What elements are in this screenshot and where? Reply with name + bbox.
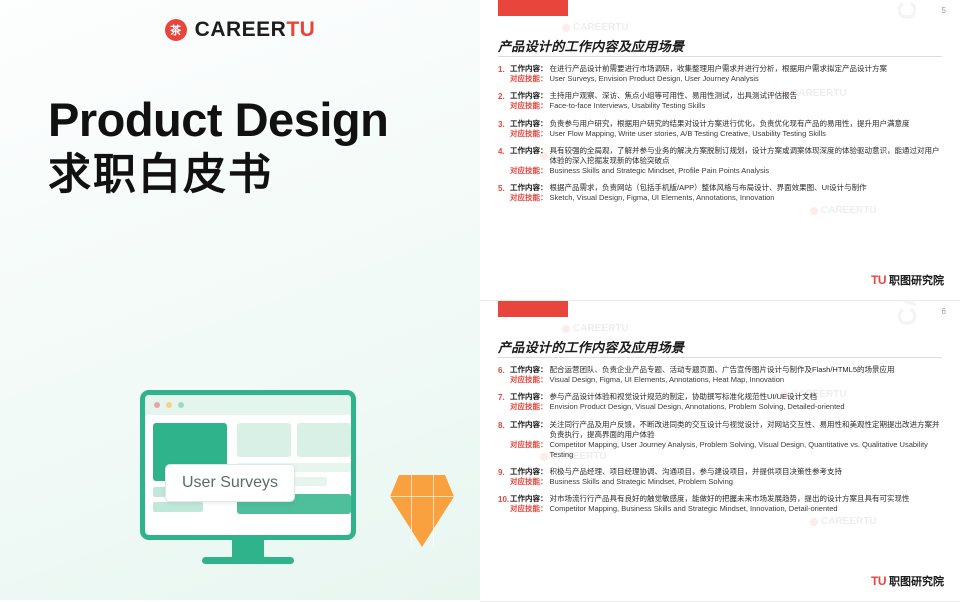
slide-page-number: 6 <box>942 307 946 316</box>
item-content-text: 积极与产品经理、项目经理协调、沟通项目，参与建设项目，并提供项目决策性参考支持 <box>550 467 843 477</box>
watermark: CAREERTU <box>562 323 629 334</box>
footer-logo: TU 职图研究院 <box>871 573 944 589</box>
user-surveys-chip: User Surveys <box>165 464 295 502</box>
footer-logo-cn: 职图研究院 <box>889 573 944 589</box>
slide-item-list: 6. 工作内容：配合运营团队、负责企业产品专题、活动专题页面、广告宣传图片设计与… <box>498 365 942 522</box>
item-content-label: 工作内容： <box>510 420 548 430</box>
monitor-titlebar <box>145 395 351 415</box>
item-content-text: 参与产品设计体验和视觉设计规范的制定，协助撰写标准化规范性UI/UE设计文档 <box>550 392 818 402</box>
footer-logo-cn: 职图研究院 <box>889 272 944 288</box>
ui-block-line-2 <box>153 502 203 512</box>
sketch-diamond-lines <box>390 475 454 547</box>
item-content-label: 工作内容： <box>510 365 548 375</box>
list-item: 4. 工作内容：具有较强的全局观，了解并参与业务的解决方案脱制订规划，设计方案或… <box>498 146 942 176</box>
item-content-text: 主持用户观察、深访、焦点小组等可用性、易用性测试，出具测试评估报告 <box>550 91 798 101</box>
item-content-text: 具有较强的全局观，了解并参与业务的解决方案脱制订规划，设计方案或调案体现深度的体… <box>550 146 943 166</box>
ui-card-1 <box>237 423 291 457</box>
item-content-label: 工作内容： <box>510 119 548 129</box>
slide-page-number: 5 <box>942 6 946 15</box>
item-index: 2. <box>498 91 510 111</box>
slide-title-rule <box>498 357 942 358</box>
item-skill-label: 对应技能： <box>510 193 548 203</box>
list-item: 10. 工作内容：对市场流行行产品具有良好的触觉敏感度，能做好的把握未来市场发展… <box>498 494 942 514</box>
item-content-text: 根据产品需求，负责网站（包括手机版/APP）整体风格与布局设计、界面效果图、UI… <box>550 183 867 193</box>
item-skill-text: Visual Design, Figma, UI Elements, Annot… <box>550 375 785 385</box>
item-index: 8. <box>498 420 510 461</box>
cover-title-en: Product Design <box>48 95 448 145</box>
cover-title-block: Product Design 求职白皮书 <box>48 95 448 199</box>
item-content-label: 工作内容： <box>510 91 548 101</box>
slide-accent-bar <box>498 301 568 317</box>
item-content-text: 负责参与用户研究，根据用户研究的结果对设计方案进行优化，负责优化现有产品的易用性… <box>550 119 910 129</box>
brand-logo: 茶 CAREERTU <box>0 18 480 42</box>
slide-5[interactable]: 5 产品设计的工作内容及应用场景 CAREERTU CAREERTU CAREE… <box>480 0 960 301</box>
item-index: 3. <box>498 119 510 139</box>
brand-name: CAREERTU <box>195 18 316 42</box>
cover-illustration: User Surveys <box>140 390 360 575</box>
list-item: 9. 工作内容：积极与产品经理、项目经理协调、沟通项目，参与建设项目，并提供项目… <box>498 467 942 487</box>
cover-panel: 茶 CAREERTU Product Design 求职白皮书 <box>0 0 480 600</box>
item-skill-label: 对应技能： <box>510 101 548 111</box>
slide-title-rule <box>498 56 942 57</box>
item-skill-label: 对应技能： <box>510 166 548 176</box>
item-content-label: 工作内容： <box>510 183 548 193</box>
item-skill-text: Competitor Mapping, User Journey Analysi… <box>550 440 943 460</box>
window-dot-green <box>178 402 184 408</box>
item-index: 5. <box>498 183 510 203</box>
item-skill-text: Business Skills and Strategic Mindset, P… <box>550 166 770 176</box>
item-skill-label: 对应技能： <box>510 375 548 385</box>
item-content-label: 工作内容： <box>510 467 548 477</box>
item-index: 9. <box>498 467 510 487</box>
item-skill-text: User Flow Mapping, Write user stories, A… <box>550 129 826 139</box>
watermark: CAREERTU <box>562 22 629 33</box>
item-skill-text: Competitor Mapping, Business Skills and … <box>550 504 838 514</box>
document-page: 茶 CAREERTU Product Design 求职白皮书 <box>0 0 960 600</box>
slide-title: 产品设计的工作内容及应用场景 <box>498 337 684 356</box>
slide-title: 产品设计的工作内容及应用场景 <box>498 36 684 55</box>
monitor-stand <box>232 540 264 558</box>
list-item: 1. 工作内容：在进行产品设计前需要进行市场调研，收集整理用户需求并进行分析，根… <box>498 64 942 84</box>
item-index: 6. <box>498 365 510 385</box>
window-dot-yellow <box>166 402 172 408</box>
brand-name-accent: TU <box>286 18 315 41</box>
brand-mark-icon: 茶 <box>165 19 187 41</box>
list-item: 6. 工作内容：配合运营团队、负责企业产品专题、活动专题页面、广告宣传图片设计与… <box>498 365 942 385</box>
item-content-label: 工作内容： <box>510 494 548 504</box>
slide-item-list: 1. 工作内容：在进行产品设计前需要进行市场调研，收集整理用户需求并进行分析，根… <box>498 64 942 210</box>
item-content-label: 工作内容： <box>510 146 548 156</box>
item-skill-text: Business Skills and Strategic Mindset, P… <box>550 477 733 487</box>
footer-logo-tu: TU <box>871 574 886 588</box>
item-skill-label: 对应技能： <box>510 504 548 514</box>
item-skill-label: 对应技能： <box>510 402 548 412</box>
item-skill-label: 对应技能： <box>510 477 548 487</box>
item-skill-label: 对应技能： <box>510 440 548 450</box>
item-skill-text: User Surveys, Envision Product Design, U… <box>550 74 759 84</box>
slide-accent-bar <box>498 0 568 16</box>
item-skill-text: Face-to-face Interviews, Usability Testi… <box>550 101 706 111</box>
item-content-label: 工作内容： <box>510 392 548 402</box>
list-item: 2. 工作内容：主持用户观察、深访、焦点小组等可用性、易用性测试，出具测试评估报… <box>498 91 942 111</box>
slides-panel: 5 产品设计的工作内容及应用场景 CAREERTU CAREERTU CAREE… <box>480 0 960 600</box>
slide-6[interactable]: 6 产品设计的工作内容及应用场景 CAREERTU CAREERTU CAREE… <box>480 301 960 602</box>
item-index: 7. <box>498 392 510 412</box>
watermark-large: CAREERTU <box>892 301 923 326</box>
list-item: 3. 工作内容：负责参与用户研究，根据用户研究的结果对设计方案进行优化，负责优化… <box>498 119 942 139</box>
window-dot-red <box>154 402 160 408</box>
sketch-diamond-icon <box>390 475 454 547</box>
ui-card-2 <box>297 423 351 457</box>
item-index: 1. <box>498 64 510 84</box>
item-skill-label: 对应技能： <box>510 74 548 84</box>
item-content-text: 关注同行产品及用户反馈，不断改进同类的交互设计与视觉设计，对网站交互性、易用性和… <box>550 420 943 440</box>
list-item: 5. 工作内容：根据产品需求，负责网站（包括手机版/APP）整体风格与布局设计、… <box>498 183 942 203</box>
item-skill-text: Envision Product Design, Visual Design, … <box>550 402 845 412</box>
item-content-text: 配合运营团队、负责企业产品专题、活动专题页面、广告宣传图片设计与制作及Flash… <box>550 365 895 375</box>
footer-logo: TU 职图研究院 <box>871 272 944 288</box>
item-content-label: 工作内容： <box>510 64 548 74</box>
list-item: 7. 工作内容：参与产品设计体验和视觉设计规范的制定，协助撰写标准化规范性UI/… <box>498 392 942 412</box>
item-skill-text: Sketch, Visual Design, Figma, UI Element… <box>550 193 775 203</box>
item-content-text: 在进行产品设计前需要进行市场调研，收集整理用户需求并进行分析，根据用户需求拟定产… <box>550 64 888 74</box>
item-content-text: 对市场流行行产品具有良好的触觉敏感度，能做好的把握未来市场发展趋势，提出的设计方… <box>550 494 910 504</box>
monitor-base <box>202 557 294 564</box>
item-skill-label: 对应技能： <box>510 129 548 139</box>
list-item: 8. 工作内容：关注同行产品及用户反馈，不断改进同类的交互设计与视觉设计，对网站… <box>498 420 942 461</box>
brand-name-main: CAREER <box>195 18 287 41</box>
cover-title-cn: 求职白皮书 <box>48 151 448 199</box>
footer-logo-tu: TU <box>871 273 886 287</box>
item-index: 4. <box>498 146 510 176</box>
item-index: 10. <box>498 494 510 514</box>
watermark-large: CAREERTU <box>892 0 923 20</box>
